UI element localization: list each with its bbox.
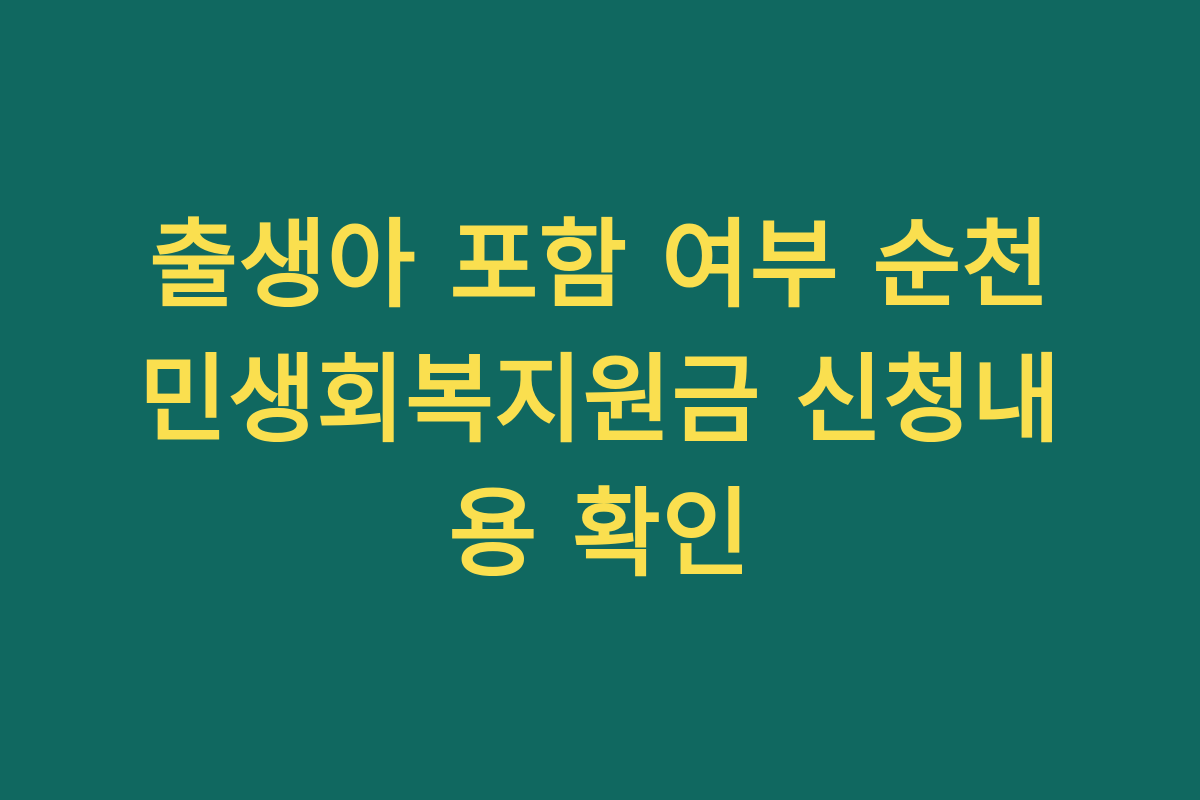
headline-line-2: 민생회복지원금 신청내 [100, 333, 1100, 467]
banner-canvas: 출생아 포함 여부 순천 민생회복지원금 신청내 용 확인 [0, 0, 1200, 800]
headline-line-3: 용 확인 [100, 467, 1100, 601]
headline-line-1: 출생아 포함 여부 순천 [100, 198, 1100, 332]
headline-text: 출생아 포함 여부 순천 민생회복지원금 신청내 용 확인 [100, 198, 1100, 601]
